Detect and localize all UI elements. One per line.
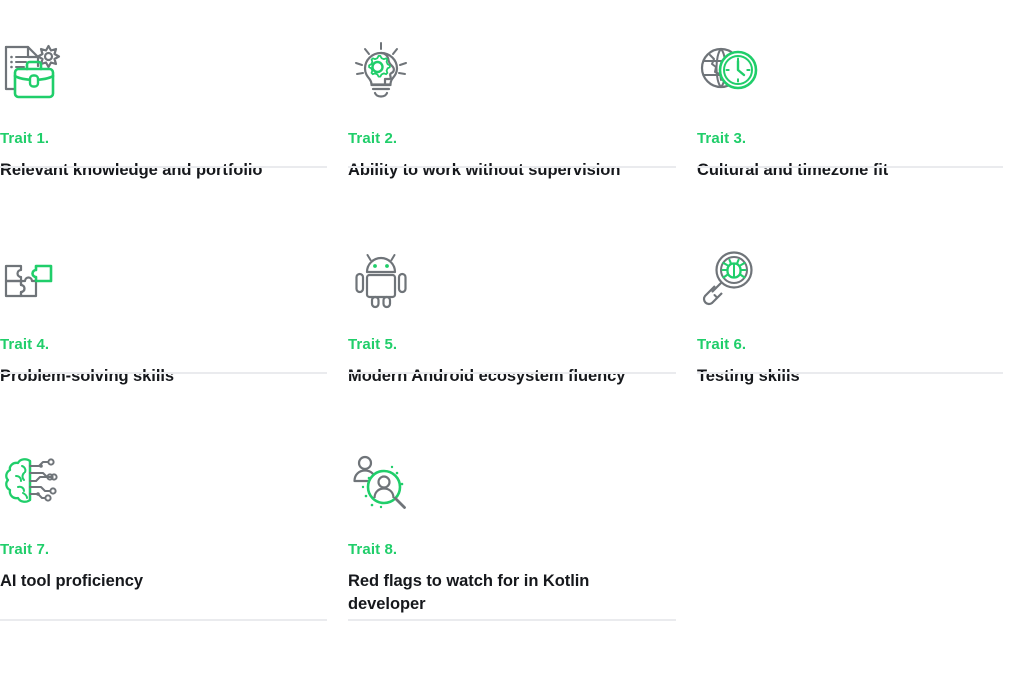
puzzle-pieces-icon bbox=[0, 248, 66, 310]
globe-clock-icon bbox=[697, 42, 763, 104]
trait-card-1: Trait 1. Relevant knowledge and portfoli… bbox=[0, 0, 348, 206]
trait-title: Modern Android ecosystem fluency bbox=[348, 365, 653, 388]
trait-divider bbox=[348, 619, 676, 621]
trait-card-4: Trait 4. Problem-solving skills bbox=[0, 206, 348, 411]
lightbulb-head-gear-icon bbox=[348, 42, 414, 104]
trait-card-8: Trait 8. Red flags to watch for in Kotli… bbox=[348, 411, 697, 691]
trait-label: Trait 1. bbox=[0, 130, 327, 148]
document-gear-briefcase-icon bbox=[0, 42, 66, 104]
trait-divider bbox=[0, 619, 327, 621]
person-search-icon bbox=[348, 453, 414, 515]
trait-title: AI tool proficiency bbox=[0, 570, 305, 593]
trait-label: Trait 4. bbox=[0, 336, 327, 354]
trait-label: Trait 2. bbox=[348, 130, 676, 148]
trait-title: Ability to work without supervision bbox=[348, 159, 653, 182]
trait-divider bbox=[0, 372, 327, 374]
trait-divider bbox=[697, 166, 1003, 168]
trait-card-3: Trait 3. Cultural and timezone fit bbox=[697, 0, 1024, 206]
android-robot-icon bbox=[348, 248, 414, 310]
trait-card-7: Trait 7. AI tool proficiency bbox=[0, 411, 348, 691]
trait-title: Red flags to watch for in Kotlin develop… bbox=[348, 570, 653, 617]
trait-title: Cultural and timezone fit bbox=[697, 159, 1002, 182]
trait-label: Trait 6. bbox=[697, 336, 1003, 354]
trait-card-5: Trait 5. Modern Android ecosystem fluenc… bbox=[348, 206, 697, 411]
trait-title: Testing skills bbox=[697, 365, 1002, 388]
traits-grid: Trait 1. Relevant knowledge and portfoli… bbox=[0, 0, 1024, 691]
trait-card-6: Trait 6. Testing skills bbox=[697, 206, 1024, 411]
trait-label: Trait 3. bbox=[697, 130, 1003, 148]
trait-title: Problem-solving skills bbox=[0, 365, 305, 388]
brain-circuit-icon bbox=[0, 453, 66, 515]
trait-divider bbox=[0, 166, 327, 168]
trait-divider bbox=[348, 166, 676, 168]
trait-card-empty bbox=[697, 411, 1024, 691]
trait-title: Relevant knowledge and portfolio bbox=[0, 159, 305, 182]
trait-label: Trait 7. bbox=[0, 541, 327, 559]
magnifier-bug-icon bbox=[697, 248, 763, 310]
trait-label: Trait 5. bbox=[348, 336, 676, 354]
trait-divider bbox=[697, 372, 1003, 374]
trait-label: Trait 8. bbox=[348, 541, 676, 559]
trait-card-2: Trait 2. Ability to work without supervi… bbox=[348, 0, 697, 206]
trait-divider bbox=[348, 372, 676, 374]
